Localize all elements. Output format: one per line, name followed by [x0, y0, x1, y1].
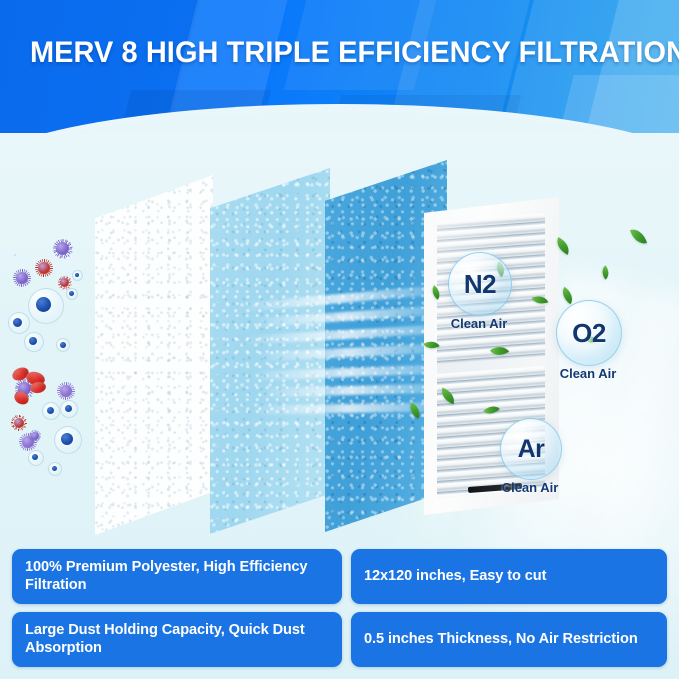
virus-particle — [38, 262, 50, 274]
feature-box-size: 12x120 inches, Easy to cut — [351, 549, 667, 604]
dust-particle — [24, 332, 44, 352]
particle-nucleus — [60, 342, 66, 348]
dust-particle — [28, 288, 64, 324]
feature-box-dust-capacity: Large Dust Holding Capacity, Quick Dust … — [12, 612, 342, 667]
feature-box-thickness: 0.5 inches Thickness, No Air Restriction — [351, 612, 667, 667]
dust-particle — [8, 312, 30, 334]
virus-particle — [14, 418, 24, 428]
bubble-label: O2 — [572, 318, 606, 349]
feature-row: Large Dust Holding Capacity, Quick Dust … — [12, 612, 667, 667]
dust-particle — [56, 338, 70, 352]
virus-particle — [60, 385, 72, 397]
particle-nucleus — [47, 407, 54, 414]
virus-particle — [60, 278, 69, 287]
particle-nucleus — [29, 337, 37, 345]
airborne-particles-group — [0, 240, 105, 490]
particle-nucleus — [36, 297, 51, 312]
dust-particle — [60, 400, 78, 418]
particle-nucleus — [61, 433, 73, 445]
bubble-caption: Clean Air — [490, 480, 570, 495]
light-blue-filter-layer — [210, 168, 330, 534]
blood-cell-particle — [29, 381, 47, 395]
particle-nucleus — [13, 318, 22, 327]
bubble-label: N2 — [464, 269, 496, 300]
virus-particle — [31, 432, 39, 440]
particle-nucleus — [69, 291, 74, 296]
particle-nucleus — [65, 405, 72, 412]
dust-particle — [66, 288, 78, 300]
particle-nucleus — [52, 466, 57, 471]
virus-particle — [16, 272, 28, 284]
particle-nucleus — [75, 273, 79, 277]
dust-particle — [14, 254, 16, 256]
bubble-circle: Ar — [500, 418, 562, 480]
bubble-circle: N2 — [448, 252, 512, 316]
feature-list: 100% Premium Polyester, High Efficiency … — [12, 549, 667, 675]
feature-box-polyester: 100% Premium Polyester, High Efficiency … — [12, 549, 342, 604]
header-banner: MERV 8 HIGH TRIPLE EFFICIENCY FILTRATION — [0, 0, 679, 140]
dust-particle — [54, 426, 82, 454]
virus-particle — [56, 242, 69, 255]
product-infographic: MERV 8 HIGH TRIPLE EFFICIENCY FILTRATION… — [0, 0, 679, 679]
dust-particle — [72, 270, 83, 281]
layer-texture — [95, 175, 213, 535]
dust-particle — [28, 450, 44, 466]
page-title: MERV 8 HIGH TRIPLE EFFICIENCY FILTRATION — [30, 36, 647, 70]
layer-texture — [210, 168, 330, 534]
feature-row: 100% Premium Polyester, High Efficiency … — [12, 549, 667, 604]
white-polyester-layer — [95, 175, 213, 535]
dust-particle — [48, 462, 62, 476]
particle-nucleus — [32, 454, 38, 460]
bubble-caption: Clean Air — [438, 316, 520, 331]
dust-particle — [42, 402, 60, 420]
bubble-label: Ar — [518, 435, 545, 464]
bubble-circle: O2 — [556, 300, 622, 366]
bubble-caption: Clean Air — [548, 366, 628, 381]
